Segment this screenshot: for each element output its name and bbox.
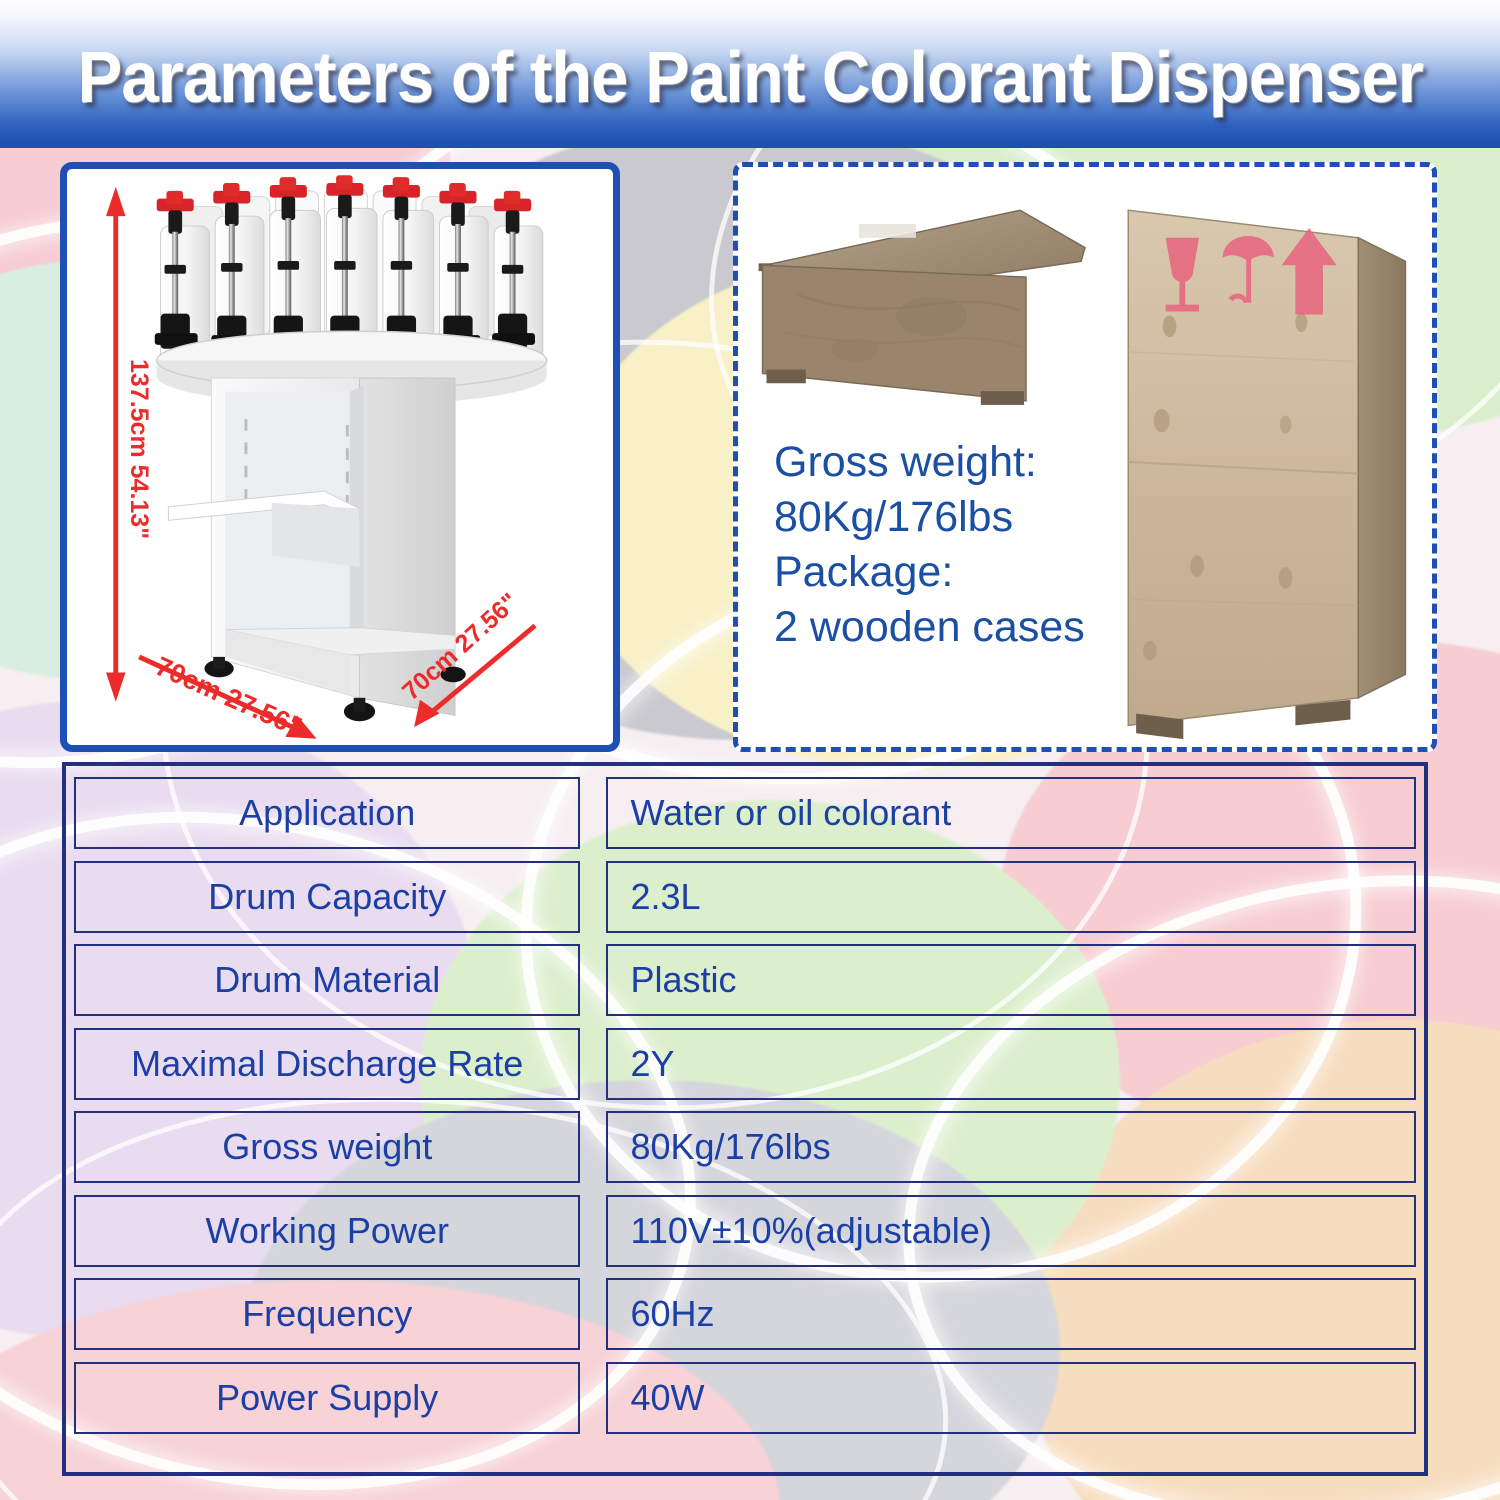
table-row: Frequency 60Hz xyxy=(74,1273,1416,1357)
package-line-gross-weight-value: 80Kg/176lbs xyxy=(774,490,1174,545)
spec-label-working-power: Working Power xyxy=(74,1195,580,1267)
table-row: Power Supply 40W xyxy=(74,1357,1416,1441)
table-row: Working Power 110V±10%(adjustable) xyxy=(74,1190,1416,1274)
spec-label-drum-material: Drum Material xyxy=(74,944,580,1016)
package-line-gross-weight-label: Gross weight: xyxy=(774,435,1174,490)
spec-value-power-supply: 40W xyxy=(606,1362,1416,1434)
infographic-page: Parameters of the Paint Colorant Dispens… xyxy=(0,0,1500,1500)
spec-value-drum-material: Plastic xyxy=(606,944,1416,1016)
table-row: Drum Material Plastic xyxy=(74,939,1416,1023)
package-line-package-label: Package: xyxy=(774,545,1174,600)
table-row: Drum Capacity 2.3L xyxy=(74,856,1416,940)
package-info-text: Gross weight: 80Kg/176lbs Package: 2 woo… xyxy=(774,435,1174,655)
spec-value-frequency: 60Hz xyxy=(606,1278,1416,1350)
spec-value-maximal-discharge-rate: 2Y xyxy=(606,1028,1416,1100)
table-row: Maximal Discharge Rate 2Y xyxy=(74,1023,1416,1107)
crate-horizontal xyxy=(759,210,1085,405)
spec-label-gross-weight: Gross weight xyxy=(74,1111,580,1183)
table-row: Application Water or oil colorant xyxy=(74,772,1416,856)
header-banner: Parameters of the Paint Colorant Dispens… xyxy=(0,0,1500,148)
spec-label-maximal-discharge-rate: Maximal Discharge Rate xyxy=(74,1028,580,1100)
spec-label-drum-capacity: Drum Capacity xyxy=(74,861,580,933)
spec-value-application: Water or oil colorant xyxy=(606,777,1416,849)
spec-label-power-supply: Power Supply xyxy=(74,1362,580,1434)
page-title: Parameters of the Paint Colorant Dispens… xyxy=(77,29,1422,119)
dimension-height-label: 137.5cm 54.13" xyxy=(124,359,153,539)
spec-value-gross-weight: 80Kg/176lbs xyxy=(606,1111,1416,1183)
product-image-panel: 137.5cm 54.13" 70cm 27.56" 70cm 27.56" xyxy=(60,162,620,752)
packaging-panel: Gross weight: 80Kg/176lbs Package: 2 woo… xyxy=(733,162,1437,752)
specifications-table: Application Water or oil colorant Drum C… xyxy=(62,762,1428,1476)
package-line-package-value: 2 wooden cases xyxy=(774,600,1174,655)
spec-value-working-power: 110V±10%(adjustable) xyxy=(606,1195,1416,1267)
spec-label-frequency: Frequency xyxy=(74,1278,580,1350)
spec-label-application: Application xyxy=(74,777,580,849)
spec-value-drum-capacity: 2.3L xyxy=(606,861,1416,933)
table-row: Gross weight 80Kg/176lbs xyxy=(74,1106,1416,1190)
